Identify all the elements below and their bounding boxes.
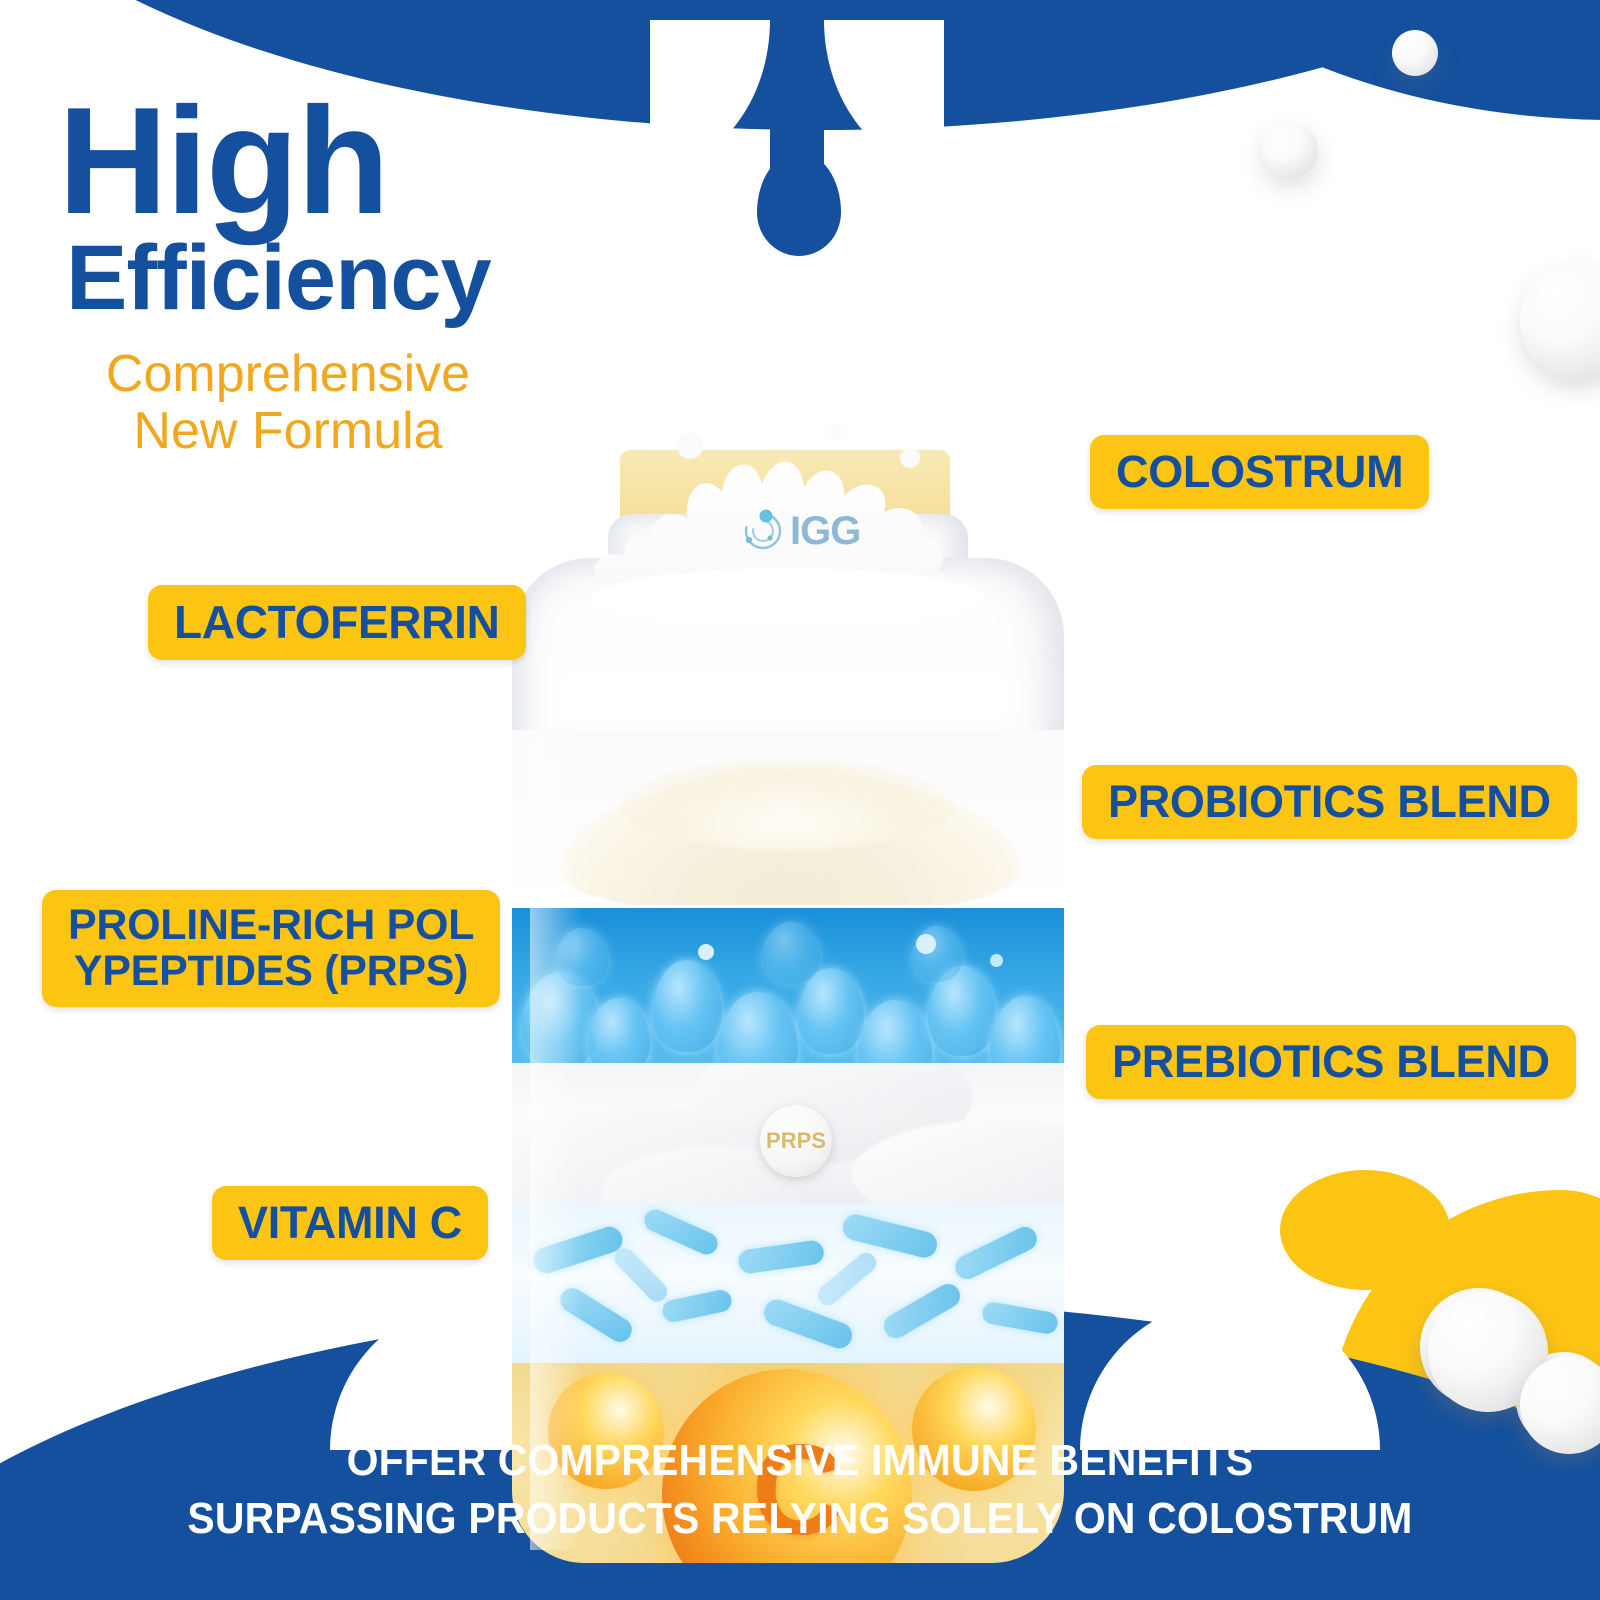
subtitle-line-2: New Formula [68,403,508,460]
subtitle-line-1: Comprehensive [68,346,508,403]
igg-logo: IGG [740,508,860,554]
badge-probiotics-blend[interactable]: PROBIOTICS BLEND [1082,765,1577,839]
prps-capsule-text: PRPS [766,1128,826,1154]
milk-drip-droplet-icon [757,152,841,256]
igg-logo-text: IGG [790,509,860,554]
product-bottle: IGG [512,430,1064,1430]
pearl-bubble-icon [1262,122,1318,178]
badge-proline-rich-polypeptides[interactable]: PROLINE-RICH POL YPEPTIDES (PRPS) [42,890,500,1007]
bottle-layer-colostrum-powder [512,730,1064,905]
prps-capsule: PRPS [760,1105,832,1177]
headline-line-1: High [58,92,508,232]
milk-drip-neck [770,20,824,170]
igg-orbit-icon [740,508,786,554]
yellow-corner-bump [1280,1170,1450,1290]
footer-line-1: OFFER COMPREHENSIVE IMMUNE BENEFITS [56,1432,1544,1490]
bottle-layer-prps: PRPS [512,1063,1064,1203]
footer-banner: OFFER COMPREHENSIVE IMMUNE BENEFITS SURP… [56,1432,1544,1548]
powder-heap-highlight [622,760,952,850]
pearl-bubble-icon [1392,30,1438,76]
headline-block: High Efficiency Comprehensive New Formul… [58,92,508,460]
pearl-bubble-icon [1520,262,1600,380]
headline-line-2: Efficiency [66,232,508,324]
badge-colostrum[interactable]: COLOSTRUM [1090,435,1429,509]
bottle-layer-prebiotics [512,1203,1064,1363]
badge-prebiotics-blend[interactable]: PREBIOTICS BLEND [1086,1025,1576,1099]
infographic-canvas: High Efficiency Comprehensive New Formul… [0,0,1600,1600]
badge-lactoferrin[interactable]: LACTOFERRIN [148,585,526,660]
subtitle-block: Comprehensive New Formula [68,346,508,460]
footer-line-2: SURPASSING PRODUCTS RELYING SOLELY ON CO… [56,1490,1544,1548]
badge-vitamin-c[interactable]: VITAMIN C [212,1186,488,1260]
bottle-layer-probiotics [512,908,1064,1063]
